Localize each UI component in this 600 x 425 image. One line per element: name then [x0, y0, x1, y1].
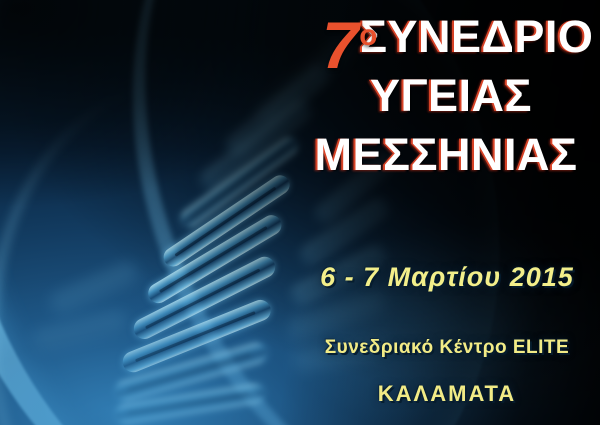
- conference-poster: 7ο ΣΥΝΕΔΡΙΟ ΥΓΕΙΑΣ ΜΕΣΣΗΝΙΑΣ 6 - 7 Μαρτί…: [0, 0, 600, 425]
- ordinal-suffix: ο: [359, 19, 378, 52]
- poster-info-block: 6 - 7 Μαρτίου 2015 Συνεδριακό Κέντρο ELI…: [300, 262, 594, 407]
- title-word-messinias: ΜΕΣΣΗΝΙΑΣ: [314, 129, 577, 180]
- poster-title-block: 7ο ΣΥΝΕΔΡΙΟ ΥΓΕΙΑΣ ΜΕΣΣΗΝΙΑΣ: [300, 14, 592, 177]
- ordinal-number: 7: [322, 8, 359, 82]
- event-venue: Συνεδριακό Κέντρο ELITE: [300, 337, 594, 359]
- title-line-messinia: ΜΕΣΣΗΝΙΑΣ: [300, 132, 592, 177]
- title-line-congress: 7ο ΣΥΝΕΔΡΙΟ: [300, 14, 592, 59]
- title-word-ygeias: ΥΓΕΙΑΣ: [370, 70, 532, 121]
- ordinal-seventh: 7ο: [322, 12, 378, 78]
- event-city: ΚΑΛΑΜΑΤΑ: [300, 381, 594, 407]
- event-date: 6 - 7 Μαρτίου 2015: [300, 262, 594, 293]
- title-word-synedrio: ΣΥΝΕΔΡΙΟ: [360, 11, 593, 62]
